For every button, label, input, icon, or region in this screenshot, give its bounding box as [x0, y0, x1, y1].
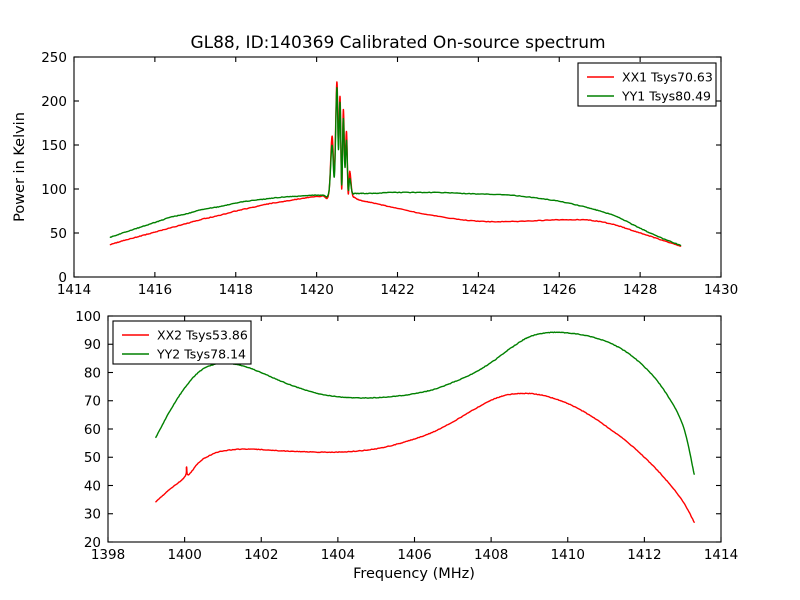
legend-label: YY2 Tsys78.14: [156, 347, 246, 362]
x-tick-label: 1404: [321, 547, 355, 563]
y-tick-label: 200: [41, 94, 67, 110]
y-tick-label: 100: [75, 309, 101, 325]
x-tick-label: 1400: [167, 547, 201, 563]
y-tick-label: 150: [41, 138, 67, 154]
x-tick-label: 1430: [704, 282, 738, 298]
x-axis-label: Frequency (MHz): [353, 566, 475, 582]
y-tick-label: 50: [50, 226, 67, 242]
y-tick-label: 20: [84, 535, 101, 551]
x-tick-label: 1424: [461, 282, 495, 298]
x-tick-label: 1408: [474, 547, 508, 563]
x-tick-label: 1406: [397, 547, 431, 563]
figure-title: GL88, ID:140369 Calibrated On-source spe…: [190, 33, 605, 53]
x-tick-label: 1426: [542, 282, 576, 298]
y-tick-label: 80: [84, 365, 101, 381]
x-tick-label: 1412: [627, 547, 661, 563]
legend-label: XX2 Tsys53.86: [157, 328, 248, 343]
y-tick-label: 100: [41, 182, 67, 198]
spectrum-figure: GL88, ID:140369 Calibrated On-source spe…: [0, 0, 800, 600]
x-tick-label: 1422: [380, 282, 414, 298]
y-tick-label: 70: [84, 394, 101, 410]
y-tick-label: 30: [84, 507, 101, 523]
legend-label: XX1 Tsys70.63: [622, 70, 713, 85]
y-tick-label: 40: [84, 478, 101, 494]
y-tick-label: 50: [84, 450, 101, 466]
y-tick-label: 0: [58, 270, 67, 286]
x-tick-label: 1416: [138, 282, 172, 298]
legend-label: YY1 Tsys80.49: [621, 89, 711, 104]
x-tick-label: 1414: [704, 547, 738, 563]
figure-canvas: GL88, ID:140369 Calibrated On-source spe…: [0, 0, 800, 600]
y-axis-label: Power in Kelvin: [12, 112, 28, 222]
y-tick-label: 250: [41, 50, 67, 66]
y-tick-label: 60: [84, 422, 101, 438]
x-tick-label: 1420: [299, 282, 333, 298]
x-tick-label: 1428: [623, 282, 657, 298]
x-tick-label: 1418: [219, 282, 253, 298]
x-tick-label: 1402: [244, 547, 278, 563]
x-tick-label: 1410: [551, 547, 585, 563]
y-tick-label: 90: [84, 337, 101, 353]
